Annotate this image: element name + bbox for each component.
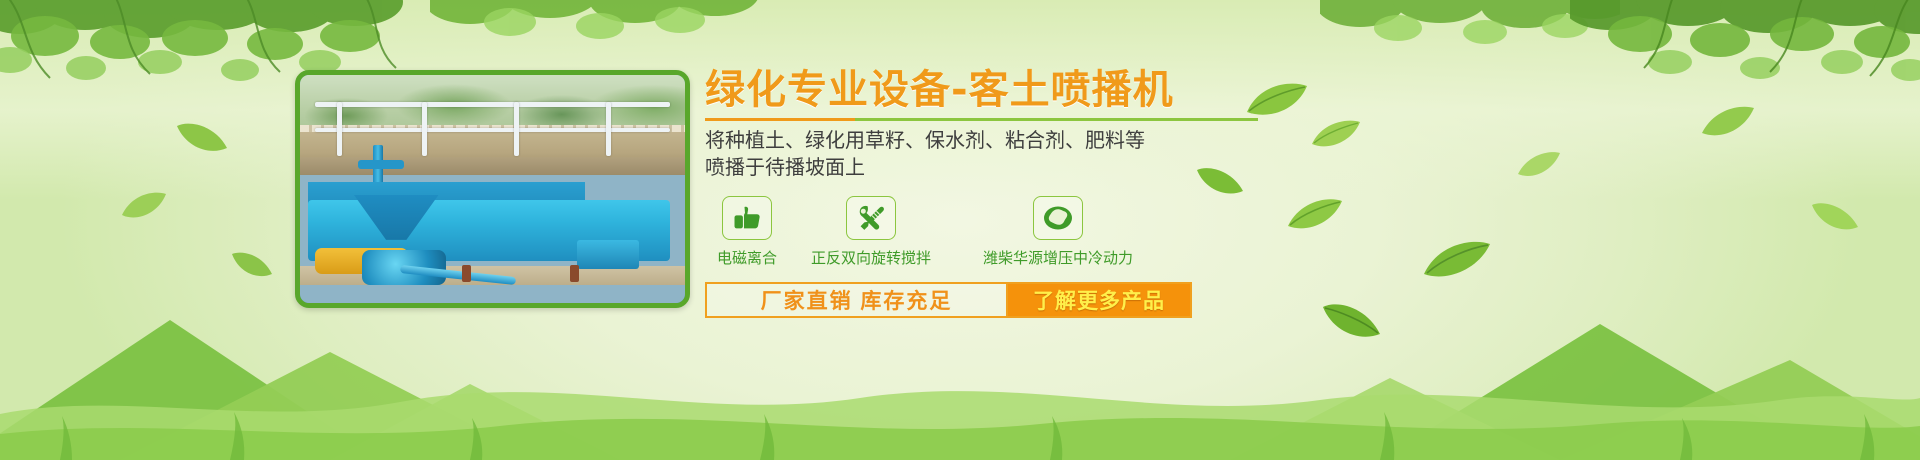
photo-machine bbox=[300, 153, 685, 285]
title-divider bbox=[705, 118, 1258, 121]
promo-text-box: 厂家直销 库存充足 bbox=[705, 282, 1006, 318]
banner-title: 绿化专业设备-客土喷播机 bbox=[705, 66, 1285, 114]
feature-item-bidirectional-mixing[interactable]: 正反双向旋转搅拌 bbox=[811, 196, 931, 268]
wrench-screwdriver-icon bbox=[856, 204, 886, 232]
feature-icon-box bbox=[846, 196, 896, 240]
feature-list: 电磁离合 正反双向旋转搅拌 bbox=[705, 196, 1285, 268]
feature-label: 正反双向旋转搅拌 bbox=[811, 247, 931, 268]
feature-label: 潍柴华源增压中冷动力 bbox=[983, 247, 1133, 268]
feature-item-electromagnetic-clutch[interactable]: 电磁离合 bbox=[717, 196, 777, 268]
grass-decoration bbox=[0, 350, 1920, 460]
learn-more-button[interactable]: 了解更多产品 bbox=[1006, 282, 1192, 318]
engine-gear-icon bbox=[1042, 204, 1074, 232]
feature-label: 电磁离合 bbox=[717, 247, 777, 268]
feature-icon-box bbox=[722, 196, 772, 240]
feature-item-weichai-power[interactable]: 潍柴华源增压中冷动力 bbox=[983, 196, 1133, 268]
banner-content: 绿化专业设备-客土喷播机 将种植土、绿化用草籽、保水剂、粘合剂、肥料等 喷播于待… bbox=[705, 66, 1285, 318]
banner-description-line-1: 将种植土、绿化用草籽、保水剂、粘合剂、肥料等 bbox=[705, 128, 1285, 155]
floating-leaf-icon bbox=[1286, 196, 1344, 234]
floating-leaf-icon bbox=[1810, 200, 1860, 234]
thumbs-up-icon bbox=[732, 205, 762, 231]
feature-icon-box bbox=[1033, 196, 1083, 240]
cta-row: 厂家直销 库存充足 了解更多产品 bbox=[705, 282, 1192, 318]
promo-banner: 绿化专业设备-客土喷播机 将种植土、绿化用草籽、保水剂、粘合剂、肥料等 喷播于待… bbox=[0, 0, 1920, 460]
product-photo[interactable] bbox=[295, 70, 690, 308]
banner-description-line-2: 喷播于待播坡面上 bbox=[705, 155, 1285, 182]
